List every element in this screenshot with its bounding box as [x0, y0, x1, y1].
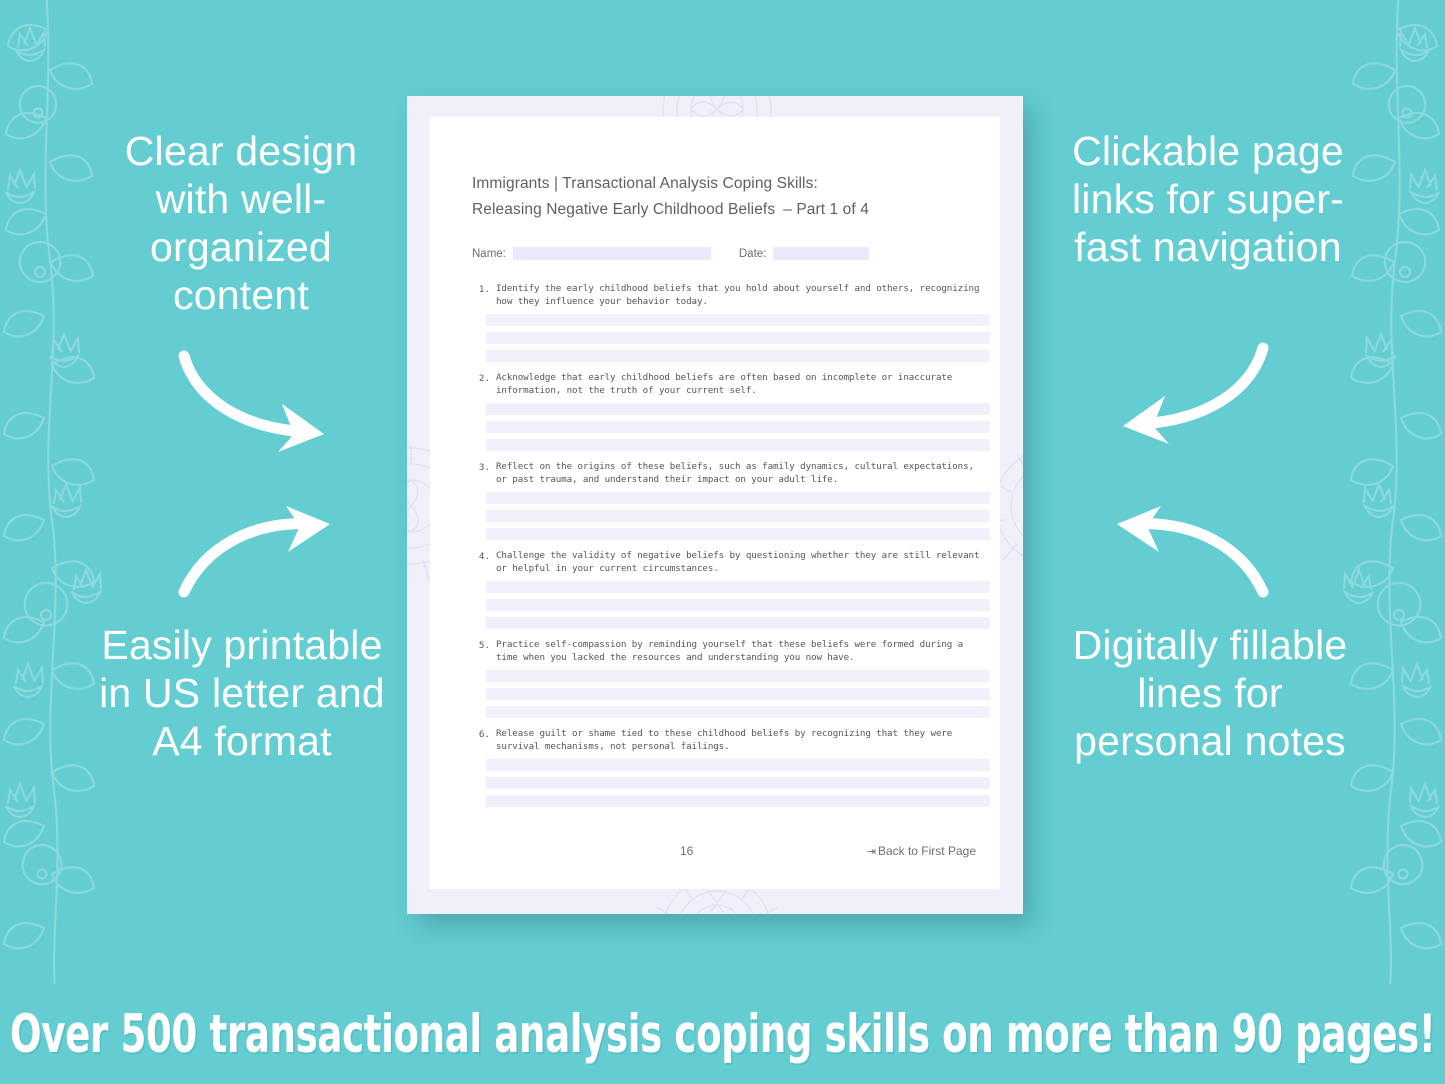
worksheet-item-fill-lines [486, 581, 990, 629]
worksheet-item-fill-lines [486, 759, 990, 807]
name-date-row: Name: Date: [472, 247, 990, 260]
worksheet-document[interactable]: Immigrants | Transactional Analysis Copi… [407, 96, 1023, 914]
date-input[interactable] [773, 247, 869, 260]
worksheet-item: 2.Acknowledge that early childhood belie… [472, 371, 990, 451]
worksheet-title-line-1: Immigrants | Transactional Analysis Copi… [472, 171, 990, 197]
worksheet-item: 1.Identify the early childhood beliefs t… [472, 282, 990, 362]
back-link-arrow-icon: ⇥ [867, 846, 876, 858]
fillable-line[interactable] [486, 599, 990, 611]
back-to-first-page-link[interactable]: ⇥Back to First Page [867, 844, 976, 858]
worksheet-item-text: Acknowledge that early childhood beliefs… [490, 371, 990, 397]
worksheet-items: 1.Identify the early childhood beliefs t… [472, 282, 990, 807]
worksheet-item-fill-lines [486, 403, 990, 451]
worksheet-item: 4.Challenge the validity of negative bel… [472, 549, 990, 629]
worksheet-item-number: 2. [472, 371, 490, 385]
worksheet-item-number: 3. [472, 460, 490, 474]
page-number: 16 [680, 844, 693, 858]
bottom-banner-text: Over 500 transactional analysis coping s… [10, 1004, 1435, 1065]
worksheet-item-head: 4.Challenge the validity of negative bel… [472, 549, 990, 575]
worksheet-title: Immigrants | Transactional Analysis Copi… [472, 171, 990, 223]
worksheet-item-head: 6.Release guilt or shame tied to these c… [472, 727, 990, 753]
worksheet-title-line-2: Releasing Negative Early Childhood Belie… [472, 197, 990, 223]
arrow-top-right-icon [1104, 344, 1269, 449]
fillable-line[interactable] [486, 617, 990, 629]
fillable-line[interactable] [486, 510, 990, 522]
worksheet-item-number: 4. [472, 549, 490, 563]
fillable-line[interactable] [486, 581, 990, 593]
fillable-line[interactable] [486, 332, 990, 344]
fillable-line[interactable] [486, 314, 990, 326]
arrow-bottom-left-icon [178, 508, 343, 603]
fillable-line[interactable] [486, 688, 990, 700]
worksheet-item: 5.Practice self-compassion by reminding … [472, 638, 990, 718]
worksheet-item-fill-lines [486, 314, 990, 362]
worksheet-item-text: Challenge the validity of negative belie… [490, 549, 990, 575]
name-input[interactable] [513, 247, 711, 260]
fillable-line[interactable] [486, 439, 990, 451]
fillable-line[interactable] [486, 670, 990, 682]
worksheet-item-head: 1.Identify the early childhood beliefs t… [472, 282, 990, 308]
worksheet-title-subject: Releasing Negative Early Childhood Belie… [472, 201, 775, 218]
date-label: Date: [739, 248, 767, 260]
fillable-line[interactable] [486, 777, 990, 789]
worksheet-item-text: Identify the early childhood beliefs tha… [490, 282, 990, 308]
fillable-line[interactable] [486, 759, 990, 771]
worksheet-item-number: 1. [472, 282, 490, 296]
worksheet-item-head: 3.Reflect on the origins of these belief… [472, 460, 990, 486]
worksheet-item-text: Practice self-compassion by reminding yo… [490, 638, 990, 664]
name-label: Name: [472, 248, 506, 260]
bottom-banner: Over 500 transactional analysis coping s… [0, 984, 1445, 1084]
worksheet-item-text: Reflect on the origins of these beliefs,… [490, 460, 990, 486]
promo-mockup-stage: Clear design with well-organized content… [0, 0, 1445, 1084]
fillable-line[interactable] [486, 421, 990, 433]
worksheet-item-number: 6. [472, 727, 490, 741]
worksheet-item-text: Release guilt or shame tied to these chi… [490, 727, 990, 753]
fillable-line[interactable] [486, 706, 990, 718]
back-link-label: Back to First Page [878, 844, 976, 858]
worksheet-item-head: 5.Practice self-compassion by reminding … [472, 638, 990, 664]
arrow-bottom-right-icon [1104, 508, 1269, 603]
worksheet-item-fill-lines [486, 670, 990, 718]
worksheet-page: Immigrants | Transactional Analysis Copi… [430, 117, 1000, 889]
fillable-line[interactable] [486, 528, 990, 540]
caption-clickable-page-links: Clickable page links for super-fast navi… [1048, 128, 1368, 272]
caption-clear-design: Clear design with well-organized content [86, 128, 396, 320]
worksheet-item-head: 2.Acknowledge that early childhood belie… [472, 371, 990, 397]
worksheet-title-part: – Part 1 of 4 [783, 201, 869, 218]
fillable-line[interactable] [486, 350, 990, 362]
caption-digitally-fillable: Digitally fillable lines for personal no… [1060, 622, 1360, 766]
arrow-top-left-icon [178, 352, 343, 457]
worksheet-item-fill-lines [486, 492, 990, 540]
caption-easily-printable: Easily printable in US letter and A4 for… [92, 622, 392, 766]
worksheet-item: 6.Release guilt or shame tied to these c… [472, 727, 990, 807]
fillable-line[interactable] [486, 492, 990, 504]
worksheet-item-number: 5. [472, 638, 490, 652]
fillable-line[interactable] [486, 403, 990, 415]
worksheet-item: 3.Reflect on the origins of these belief… [472, 460, 990, 540]
fillable-line[interactable] [486, 795, 990, 807]
